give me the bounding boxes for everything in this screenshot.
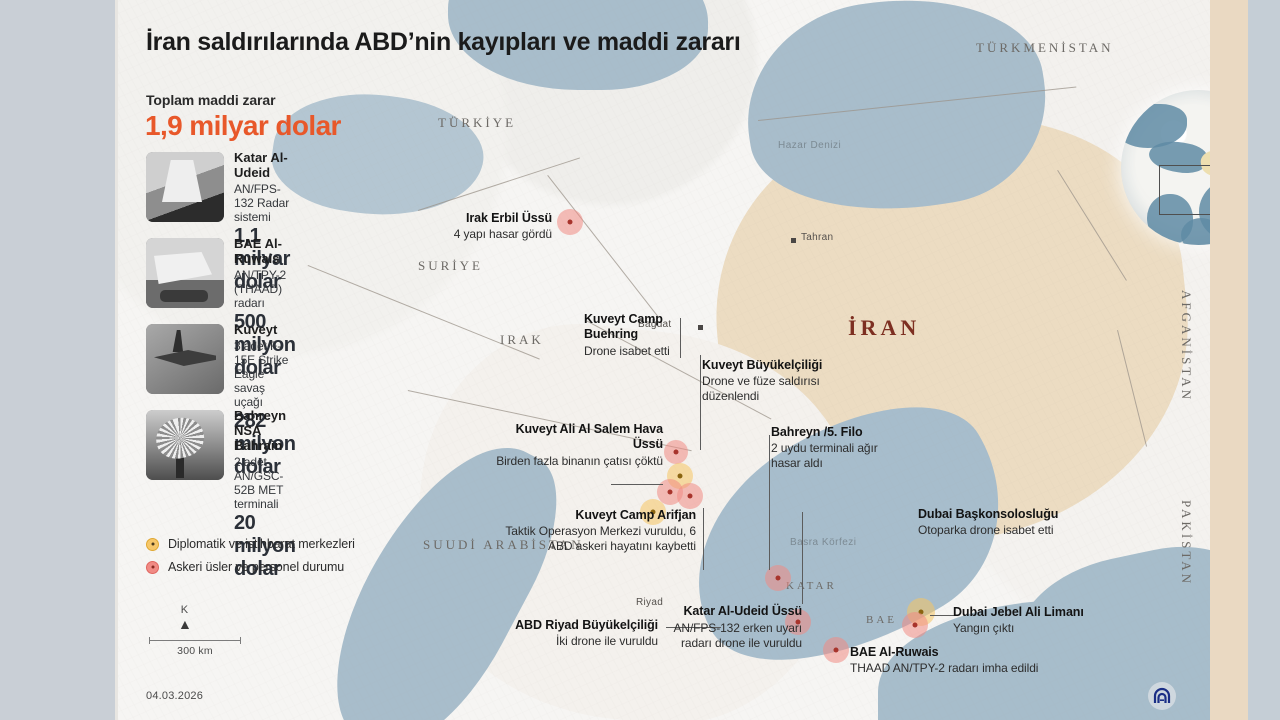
fighter-jet-photo-icon — [146, 324, 224, 394]
marker-kuveyt-camp-arifjan[interactable] — [677, 483, 703, 509]
radar-station-photo-icon — [146, 152, 224, 222]
marker-core — [834, 648, 839, 653]
marker-core — [688, 494, 693, 499]
north-letter: K — [178, 604, 192, 616]
page-title: İran saldırılarında ABD’nin kayıpları ve… — [146, 28, 741, 57]
leader-line — [700, 355, 701, 450]
marker-core — [674, 450, 679, 455]
marker-core — [651, 510, 656, 515]
publication-date: 04.03.2026 — [146, 690, 203, 702]
map-legend: Diplomatik ve istihbarat merkezleri Aske… — [146, 537, 355, 583]
marker-core — [678, 474, 683, 479]
city-dot-tahran — [791, 238, 796, 243]
marker-bae-al-ruwais[interactable] — [823, 637, 849, 663]
marker-core — [568, 220, 573, 225]
marker-kuveyt-camp-buehring[interactable] — [664, 440, 688, 464]
damage-name: Kuveyt — [234, 322, 295, 337]
legend-label: Askeri üsler ve personel durumu — [168, 560, 344, 574]
legend-item-military: Askeri üsler ve personel durumu — [146, 560, 355, 574]
damage-name: Katar Al-Udeid — [234, 150, 290, 180]
damage-name: BAE Al-Ruwais — [234, 236, 295, 266]
total-damage-value: 1,9 milyar dolar — [145, 110, 341, 142]
damage-desc: AN/FPS-132 Radar sistemi — [234, 182, 290, 224]
total-damage-label: Toplam maddi zarar — [146, 92, 275, 108]
aa-agency-logo-icon — [1148, 682, 1176, 710]
marker-core — [913, 623, 918, 628]
leader-line — [769, 435, 770, 570]
leader-line — [802, 512, 803, 604]
satellite-dish-photo-icon — [146, 410, 224, 480]
scale-bar: 300 km — [149, 640, 241, 657]
leader-line — [611, 484, 663, 485]
damage-name: Bahreyn NSA Bahrain — [234, 408, 295, 453]
north-indicator: K ▲ — [178, 604, 192, 631]
leader-line — [680, 318, 681, 358]
marker-riyad-embassy-dot[interactable] — [640, 499, 666, 525]
marker-core — [776, 576, 781, 581]
infographic-root: TÜRKİYE SURİYE IRAK SUUDİ ARABİSTAN TÜRK… — [0, 0, 1280, 720]
scale-distance: 300 km — [149, 645, 241, 657]
marker-core — [796, 620, 801, 625]
marker-dubai-baskonsoloslugu[interactable] — [902, 612, 928, 638]
marker-katar-al-udeid[interactable] — [785, 609, 811, 635]
damage-desc: 2 adet AN/GSC-52B MET terminali — [234, 455, 295, 511]
globe-viewport-frame — [1159, 165, 1210, 215]
damage-desc: 3 adet F-15E Strike Eagle savaş uçağı — [234, 339, 295, 409]
leader-line — [703, 508, 704, 570]
north-arrow-icon: ▲ — [178, 617, 192, 631]
aa-logo-mark — [1152, 686, 1172, 706]
military-marker-icon — [146, 561, 159, 574]
damage-desc: AN/TPY-2 (THAAD) radarı — [234, 268, 295, 310]
scale-bar-line — [149, 640, 241, 641]
thaad-radar-photo-icon — [146, 238, 224, 308]
legend-item-diplomatic: Diplomatik ve istihbarat merkezleri — [146, 537, 355, 551]
diplomatic-marker-icon — [146, 538, 159, 551]
leader-line — [666, 627, 721, 628]
leader-line — [930, 615, 958, 616]
marker-core — [668, 490, 673, 495]
marker-irak-erbil[interactable] — [557, 209, 583, 235]
city-dot-bagdat — [698, 325, 703, 330]
legend-label: Diplomatik ve istihbarat merkezleri — [168, 537, 355, 551]
